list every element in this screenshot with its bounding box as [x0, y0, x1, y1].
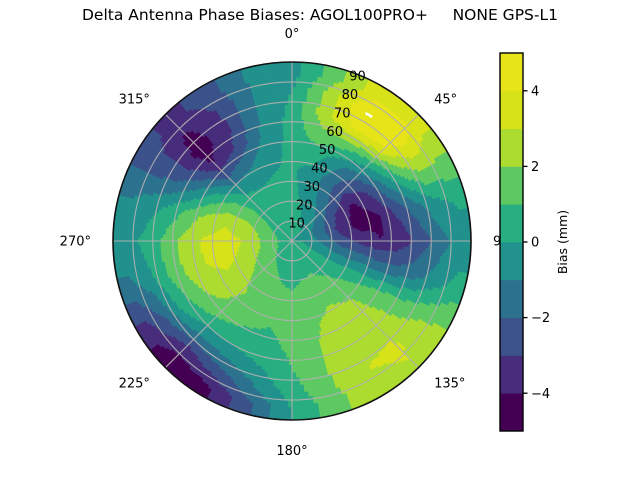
- colorbar-band-5: [500, 204, 523, 242]
- radial-label-10: 10: [288, 217, 305, 232]
- radial-label-40: 40: [311, 162, 328, 177]
- colorbar[interactable]: 420−2−4 Bias (mm): [500, 53, 570, 431]
- azimuth-label-0: 0°: [285, 27, 300, 42]
- azimuth-label-135: 135°: [434, 377, 465, 392]
- colorbar-band-7: [500, 129, 523, 167]
- radial-label-30: 30: [304, 180, 321, 195]
- colorbar-band-1: [500, 355, 523, 393]
- radial-label-80: 80: [342, 88, 359, 103]
- colorbar-band-4: [500, 242, 523, 280]
- colorbar-label: Bias (mm): [555, 210, 570, 274]
- radial-label-90: 90: [349, 70, 366, 85]
- polar-grid-layer: [113, 62, 471, 420]
- colorbar-band-0: [500, 393, 523, 431]
- radial-label-70: 70: [334, 106, 351, 121]
- polar-contour-figure: 0°45°90135°180°225°270°315° 102030405060…: [0, 0, 640, 480]
- radial-label-20: 20: [296, 198, 313, 213]
- colorbar-ticks: 420−2−4: [523, 84, 550, 401]
- colorbar-bands: [500, 53, 523, 431]
- colorbar-band-8: [500, 91, 523, 129]
- figure-root: Delta Antenna Phase Biases: AGOL100PRO+ …: [0, 0, 640, 480]
- azimuth-label-45: 45°: [434, 92, 457, 107]
- radial-label-60: 60: [326, 125, 343, 140]
- azimuth-label-180: 180°: [276, 444, 307, 459]
- colorbar-band-2: [500, 318, 523, 356]
- colorbar-band-9: [500, 53, 523, 91]
- colorbar-tick-label-0: 4: [531, 84, 539, 99]
- colorbar-tick-label-2: 0: [531, 236, 539, 251]
- colorbar-tick-label-4: −4: [531, 387, 550, 402]
- azimuth-label-270: 270°: [60, 235, 91, 250]
- azimuth-label-315: 315°: [119, 92, 150, 107]
- radial-label-50: 50: [319, 143, 336, 158]
- azimuth-label-225: 225°: [119, 377, 150, 392]
- colorbar-band-6: [500, 166, 523, 204]
- colorbar-band-3: [500, 280, 523, 318]
- colorbar-tick-label-1: 2: [531, 160, 539, 175]
- colorbar-tick-label-3: −2: [531, 311, 550, 326]
